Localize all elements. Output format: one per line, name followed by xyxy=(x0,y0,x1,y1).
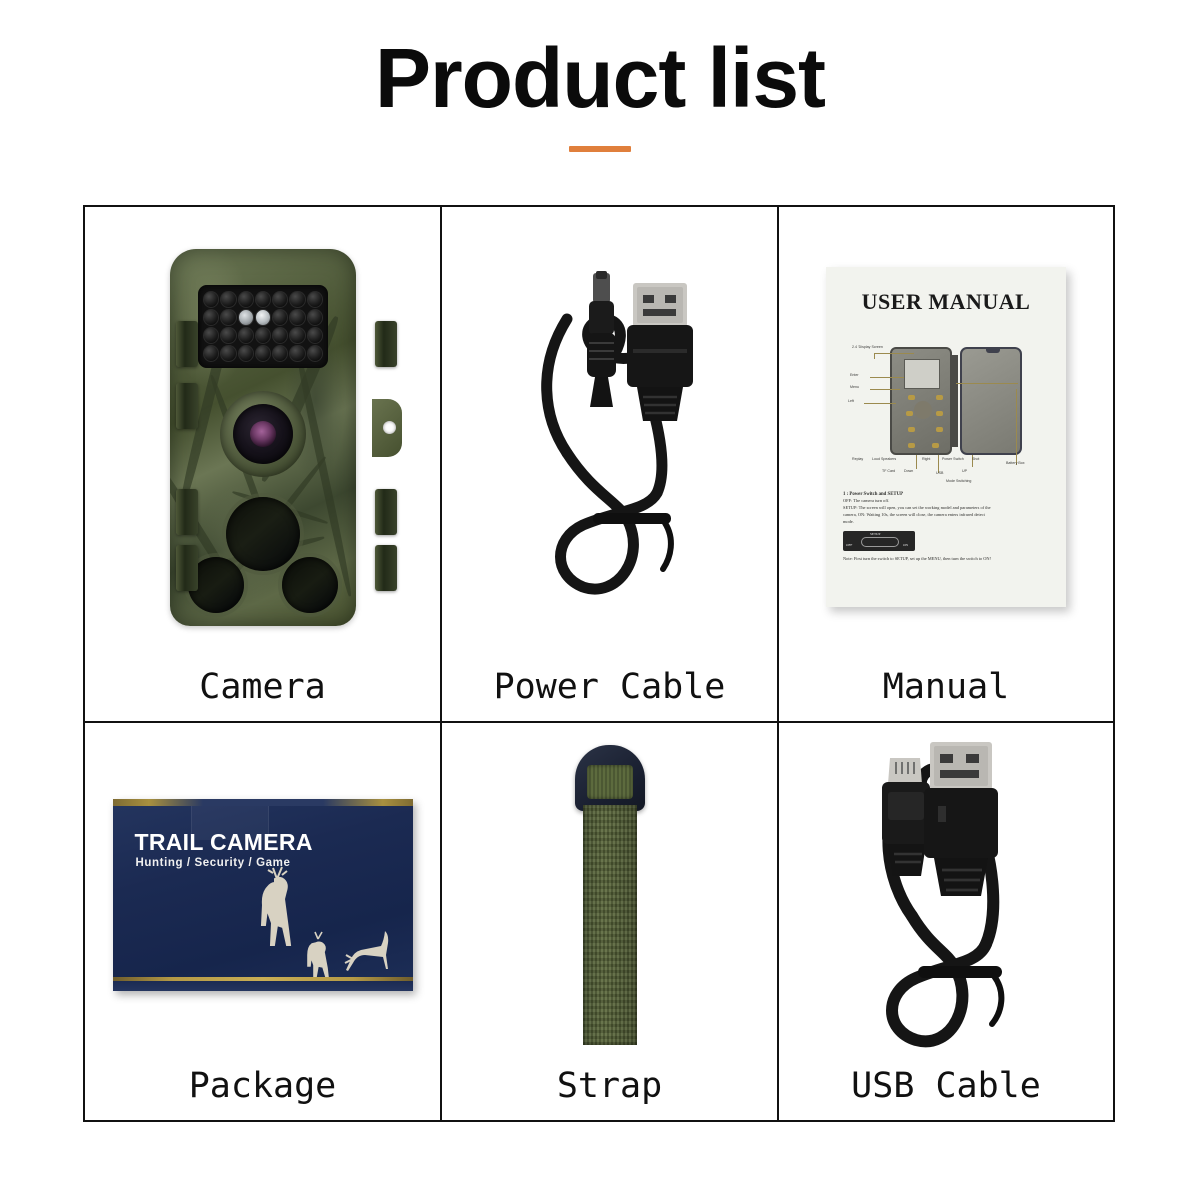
box-bottom-edge xyxy=(113,981,413,991)
product-cell-power-cable[interactable]: Power Cable xyxy=(442,207,779,723)
camera-latch xyxy=(375,321,397,367)
diagram-label: USB xyxy=(936,471,943,475)
manual-switch-figure: OFF SETUP ON xyxy=(843,531,915,551)
camera-latch xyxy=(176,489,198,535)
diagram-label: UP xyxy=(962,469,967,473)
product-label-package: Package xyxy=(189,1066,337,1120)
strap-buckle xyxy=(575,745,645,811)
diagram-label: Loud Speakers xyxy=(872,457,896,461)
diagram-label: Down xyxy=(904,469,913,473)
deer-silhouette-grazing xyxy=(341,925,391,973)
product-label-manual: Manual xyxy=(883,667,1009,721)
diagram-label: Right xyxy=(922,457,930,461)
usb-cable-image xyxy=(779,723,1113,1066)
diagram-dpad xyxy=(914,401,932,419)
product-cell-strap[interactable]: Strap xyxy=(442,723,779,1120)
power-cable-illustration xyxy=(497,257,722,617)
product-list-grid: Camera xyxy=(83,205,1115,1122)
camera-latch xyxy=(176,321,198,367)
page-header: Product list xyxy=(0,0,1200,152)
usb-a-plug xyxy=(627,283,693,421)
manual-body-line: mode. xyxy=(843,519,1049,526)
product-label-power-cable: Power Cable xyxy=(494,667,726,721)
camera-lens-housing xyxy=(220,391,306,477)
diagram-label: Battery Box xyxy=(1006,461,1025,465)
manual-camera-diagram: 2.4 'Display Screen Enter Menu Left Repl… xyxy=(846,329,1046,479)
box-top-edge xyxy=(113,799,413,806)
strap-webbing xyxy=(583,805,637,1045)
diagram-label: Left xyxy=(848,399,854,403)
manual-body-text: 1 : Power Switch and SETUP OFF: The came… xyxy=(843,491,1049,563)
product-cell-camera[interactable]: Camera xyxy=(85,207,442,723)
diagram-hinge xyxy=(952,355,958,447)
manual-body-line: camera, ON: Waiting 10s, the screen will… xyxy=(843,512,1049,519)
manual-body-line: OFF: The camera turn off. xyxy=(843,498,1049,505)
camera-lens xyxy=(233,404,293,464)
diagram-label: Replay xyxy=(852,457,863,461)
power-cable-image xyxy=(442,207,777,667)
deer-silhouette-small xyxy=(303,931,337,977)
diagram-label: 2.4 'Display Screen xyxy=(852,345,883,349)
mounting-strap xyxy=(567,745,653,1045)
camera-body xyxy=(170,249,356,626)
dc-barrel-plug xyxy=(587,271,616,407)
product-label-usb-cable: USB Cable xyxy=(851,1066,1041,1120)
diagram-label: Power Switch xyxy=(942,457,964,461)
camera-latch xyxy=(375,489,397,535)
camera-mount-tab xyxy=(372,399,402,457)
title-accent-underline xyxy=(569,146,631,152)
diagram-screen xyxy=(904,359,940,389)
diagram-camera-front xyxy=(890,347,952,455)
strap-image xyxy=(442,723,777,1066)
manual-cover-title: USER MANUAL xyxy=(862,289,1031,315)
product-label-strap: Strap xyxy=(557,1066,662,1120)
product-cell-manual[interactable]: USER MANUAL xyxy=(779,207,1113,723)
pir-sensor-right xyxy=(282,557,338,613)
diagram-label: Enter xyxy=(850,373,859,377)
package-image: TRAIL CAMERA Hunting / Security / Game xyxy=(85,723,440,1066)
diagram-label: Menu xyxy=(850,385,859,389)
user-manual-booklet: USER MANUAL xyxy=(826,267,1066,607)
product-label-camera: Camera xyxy=(199,667,325,721)
box-brand-title: TRAIL CAMERA xyxy=(135,829,313,856)
manual-body-line: SETUP: The screen will open, you can set… xyxy=(843,505,1049,512)
manual-image: USER MANUAL xyxy=(779,207,1113,667)
diagram-battery-lid xyxy=(960,347,1022,455)
trail-camera-illustration xyxy=(146,249,379,626)
product-cell-usb-cable[interactable]: USB Cable xyxy=(779,723,1113,1120)
page-title: Product list xyxy=(0,34,1200,122)
switch-label-off: OFF xyxy=(846,543,852,548)
camera-latch xyxy=(375,545,397,591)
product-cell-package[interactable]: TRAIL CAMERA Hunting / Security / Game P… xyxy=(85,723,442,1120)
camera-image xyxy=(85,207,440,667)
ir-led-array xyxy=(198,285,328,368)
switch-label-setup: SETUP xyxy=(870,532,880,537)
camera-latch xyxy=(176,383,198,429)
manual-body-heading: 1 : Power Switch and SETUP xyxy=(843,491,1049,498)
diagram-label: TF Card xyxy=(882,469,895,473)
diagram-label: Mode Switching xyxy=(946,479,971,483)
retail-box: TRAIL CAMERA Hunting / Security / Game xyxy=(113,799,413,991)
switch-label-on: ON xyxy=(903,543,908,548)
camera-latch xyxy=(176,545,198,591)
diagram-label: Shot xyxy=(972,457,979,461)
deer-silhouette-large xyxy=(253,865,309,951)
manual-note: Note: First turn the switch to SETUP, se… xyxy=(843,556,1049,563)
usb-cable-illustration xyxy=(834,730,1059,1060)
pir-sensor-main xyxy=(226,497,300,571)
